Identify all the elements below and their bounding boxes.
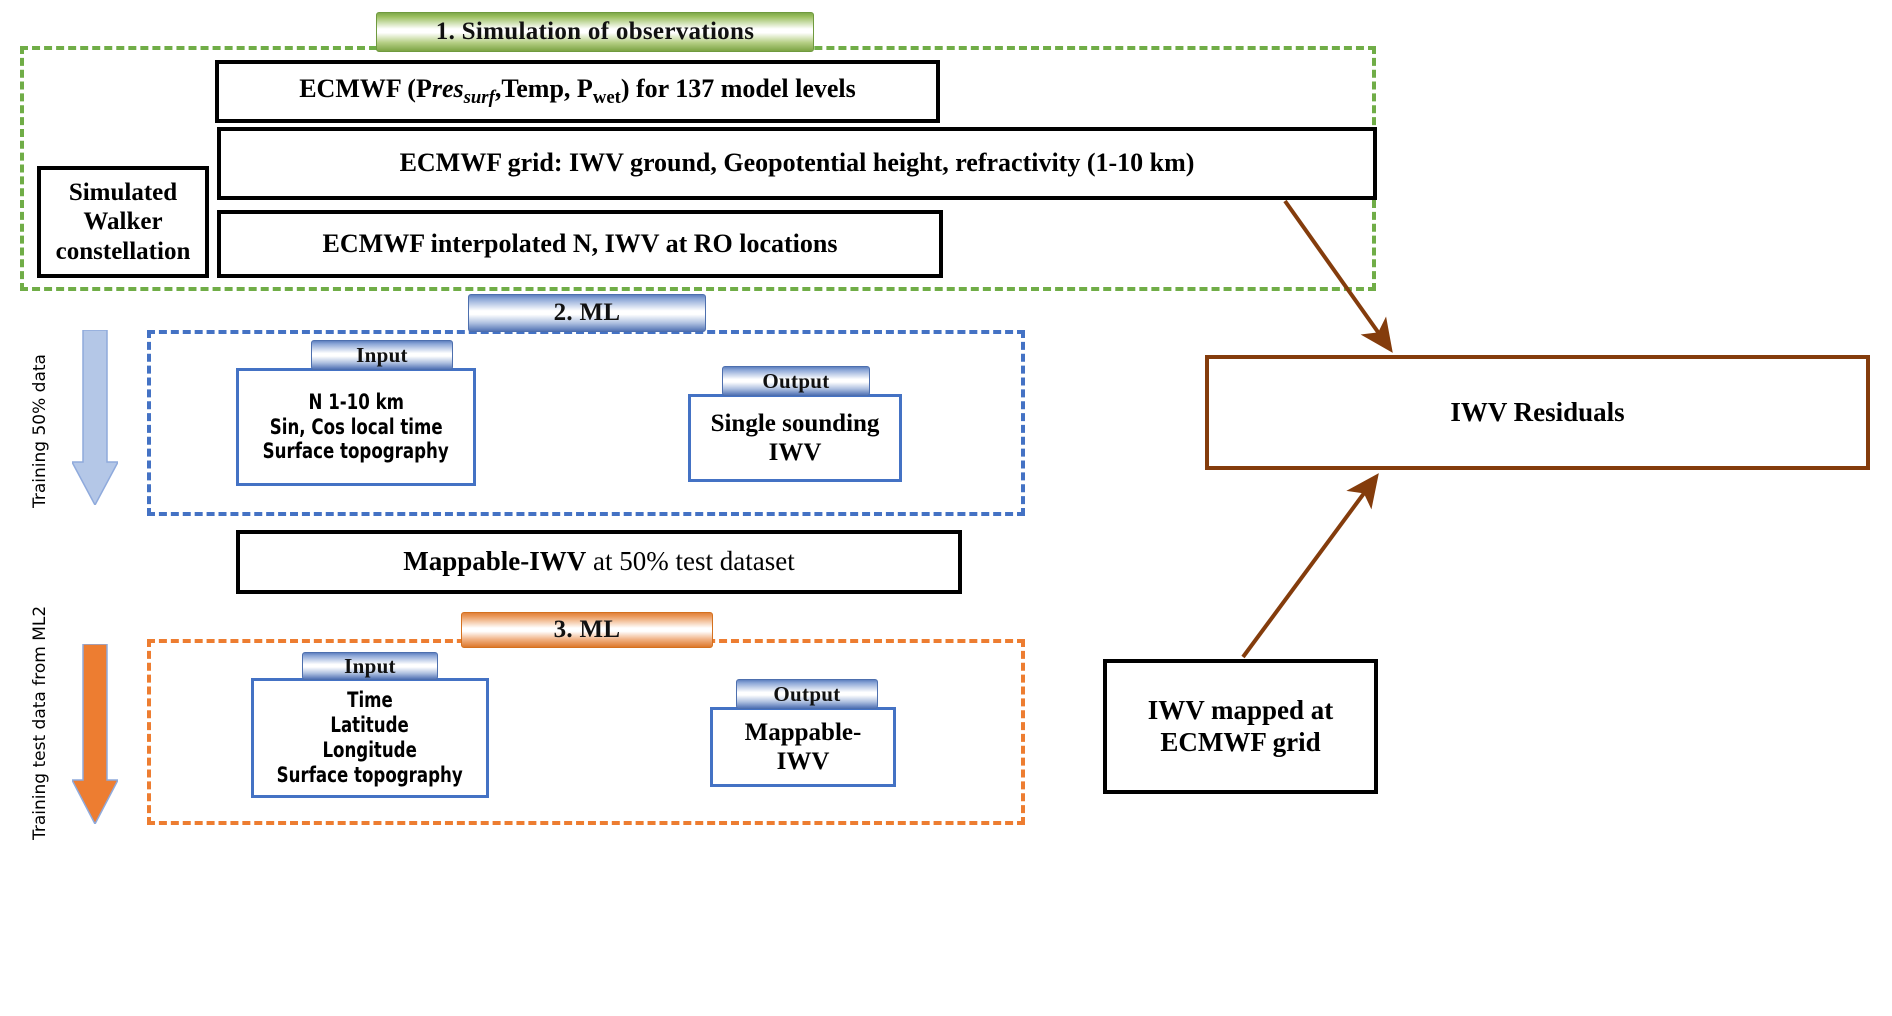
ml3-input-item-0: Time: [347, 688, 393, 713]
walker-line-1: Simulated: [69, 178, 177, 208]
simulated-walker-constellation-box: Simulated Walker constellation: [37, 166, 209, 278]
ml2-training-label: Training 50% data: [30, 354, 50, 508]
ml2-input-item-0: N 1-10 km: [308, 390, 403, 415]
ml3-input-item-2: Longitude: [323, 738, 417, 763]
mappable-iwv-label: Mappable-IWV at 50% test dataset: [403, 546, 794, 578]
ml2-training-arrow: [72, 330, 118, 505]
ml3-output-tab: Output: [736, 679, 878, 709]
ml2-input-box: N 1-10 km Sin, Cos local time Surface to…: [236, 368, 476, 486]
ml3-input-tab-label: Input: [344, 654, 396, 679]
ml3-input-tab: Input: [302, 652, 438, 680]
ml3-training-label-wrap: Training test data from ML2: [48, 620, 72, 840]
diagram-canvas: 1. Simulation of observations ECMWF (Pre…: [0, 0, 1892, 1016]
ml3-output-item-1: IWV: [777, 747, 830, 777]
ml2-banner: 2. ML: [468, 294, 706, 332]
ml3-output-tab-label: Output: [773, 682, 840, 707]
ml2-output-item-1: IWV: [769, 438, 822, 468]
ml2-banner-label: 2. ML: [554, 299, 621, 327]
ml2-training-label-wrap: Training 50% data: [48, 338, 72, 508]
ml2-input-tab: Input: [311, 340, 453, 370]
walker-line-2: Walker: [83, 207, 162, 237]
ml2-output-tab: Output: [722, 366, 870, 396]
ecmwf-grid-box: ECMWF grid: IWV ground, Geopotential hei…: [217, 127, 1377, 200]
ml2-input-item-1: Sin, Cos local time: [270, 415, 443, 440]
arrow-grid-to-residuals: [1285, 201, 1390, 349]
simulation-banner-label: 1. Simulation of observations: [436, 18, 754, 46]
ml3-output-item-0: Mappable-: [745, 718, 862, 748]
ecmwf-interpolated-label: ECMWF interpolated N, IWV at RO location…: [323, 229, 838, 260]
arrow-mapped-to-residuals: [1243, 477, 1376, 657]
iwv-mapped-line-1: IWV mapped at: [1148, 695, 1334, 727]
ecmwf-model-levels-label: ECMWF (Pressurf,Temp, Pwet) for 137 mode…: [299, 74, 856, 109]
ml3-output-box: Mappable- IWV: [710, 707, 896, 787]
mappable-iwv-test-dataset-box: Mappable-IWV at 50% test dataset: [236, 530, 962, 594]
ml2-output-item-0: Single sounding: [711, 409, 880, 439]
ml2-output-tab-label: Output: [762, 369, 829, 394]
ml3-training-arrow: [72, 644, 118, 824]
simulation-banner: 1. Simulation of observations: [376, 12, 814, 52]
ecmwf-interpolated-box: ECMWF interpolated N, IWV at RO location…: [217, 210, 943, 278]
ml2-input-item-2: Surface topography: [263, 439, 449, 464]
iwv-mapped-box: IWV mapped at ECMWF grid: [1103, 659, 1378, 794]
walker-line-3: constellation: [56, 237, 191, 267]
ecmwf-grid-label: ECMWF grid: IWV ground, Geopotential hei…: [400, 148, 1195, 179]
ml2-output-box: Single sounding IWV: [688, 394, 902, 482]
iwv-residuals-label: IWV Residuals: [1450, 397, 1624, 429]
iwv-mapped-line-2: ECMWF grid: [1160, 727, 1320, 759]
ml3-input-item-1: Latitude: [331, 713, 409, 738]
ecmwf-model-levels-box: ECMWF (Pressurf,Temp, Pwet) for 137 mode…: [215, 60, 940, 123]
ml3-input-item-3: Surface topography: [277, 763, 463, 788]
iwv-residuals-box: IWV Residuals: [1205, 355, 1870, 470]
ml3-training-label: Training test data from ML2: [30, 606, 50, 840]
ml3-banner: 3. ML: [461, 612, 713, 648]
ml2-input-tab-label: Input: [356, 343, 408, 368]
ml3-banner-label: 3. ML: [554, 616, 621, 644]
ml3-input-box: Time Latitude Longitude Surface topograp…: [251, 678, 489, 798]
